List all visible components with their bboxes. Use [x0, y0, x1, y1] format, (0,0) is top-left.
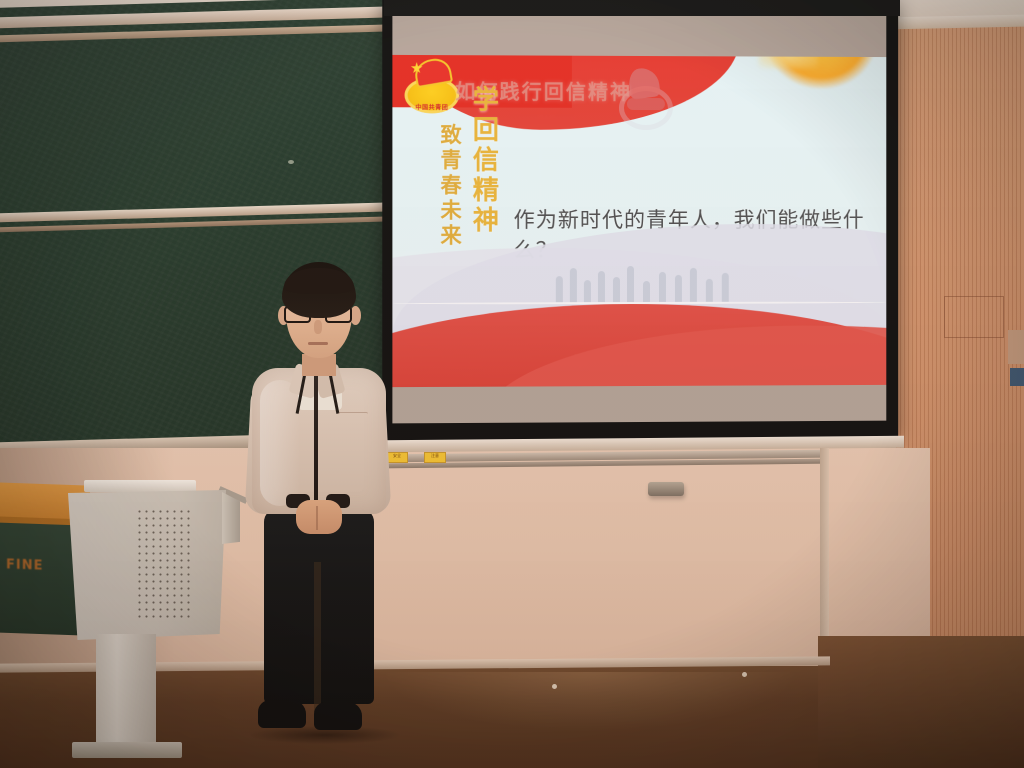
presenter-person	[246, 262, 390, 732]
wall-mounted-fixture[interactable]	[648, 482, 684, 496]
person-shoe-left	[258, 700, 306, 728]
floor-light-reflection	[380, 672, 800, 732]
projection-screen[interactable]: 中国共青团 如何践行回信精神 学回信精神 致青春未来 作为新时代的青年人，我们能…	[382, 0, 898, 442]
classroom-photo-scene: 中国共青团 如何践行回信精神 学回信精神 致青春未来 作为新时代的青年人，我们能…	[0, 0, 1024, 768]
projection-screen-surface: 中国共青团 如何践行回信精神 学回信精神 致青春未来 作为新时代的青年人，我们能…	[392, 7, 886, 424]
wall-access-panel-outline	[944, 296, 1004, 338]
wall-edge-strip	[1008, 330, 1024, 364]
chalkboard-smudge	[288, 160, 294, 164]
floor-debris	[552, 684, 557, 689]
slide-vertical-title-main: 学回信精神	[465, 85, 502, 236]
lectern-brand-label: FINE	[6, 557, 43, 573]
person-chest-pocket	[338, 412, 368, 430]
floor-debris	[742, 672, 747, 677]
person-hand-crease	[316, 506, 318, 530]
screen-unlit-bottom-band	[392, 385, 886, 423]
person-jacket-zipper	[314, 370, 318, 516]
wood-floor-right	[818, 636, 1024, 768]
person-hair-fringe	[284, 268, 354, 294]
slide-vertical-title-sub: 致青春未来	[435, 123, 465, 249]
lectern-speaker-grille	[136, 508, 192, 620]
person-nose	[314, 320, 322, 334]
emblem-label: 中国共青团	[413, 103, 451, 113]
lectern-base	[72, 742, 182, 758]
person-jacket-highlight	[260, 380, 300, 506]
person-mouth	[308, 342, 328, 345]
lectern-column	[96, 634, 156, 746]
wall-blue-marker	[1010, 368, 1024, 386]
slide-crowd-silhouette	[552, 260, 749, 302]
wall-tag-2: 注意	[424, 452, 446, 463]
lectern-top-edge	[84, 480, 196, 492]
person-shoe-right	[314, 702, 362, 730]
person-clasped-hands	[296, 500, 342, 534]
presentation-slide: 中国共青团 如何践行回信精神 学回信精神 致青春未来 作为新时代的青年人，我们能…	[392, 51, 886, 389]
person-leg-separation	[314, 562, 321, 712]
screen-top-casing	[384, 0, 900, 16]
